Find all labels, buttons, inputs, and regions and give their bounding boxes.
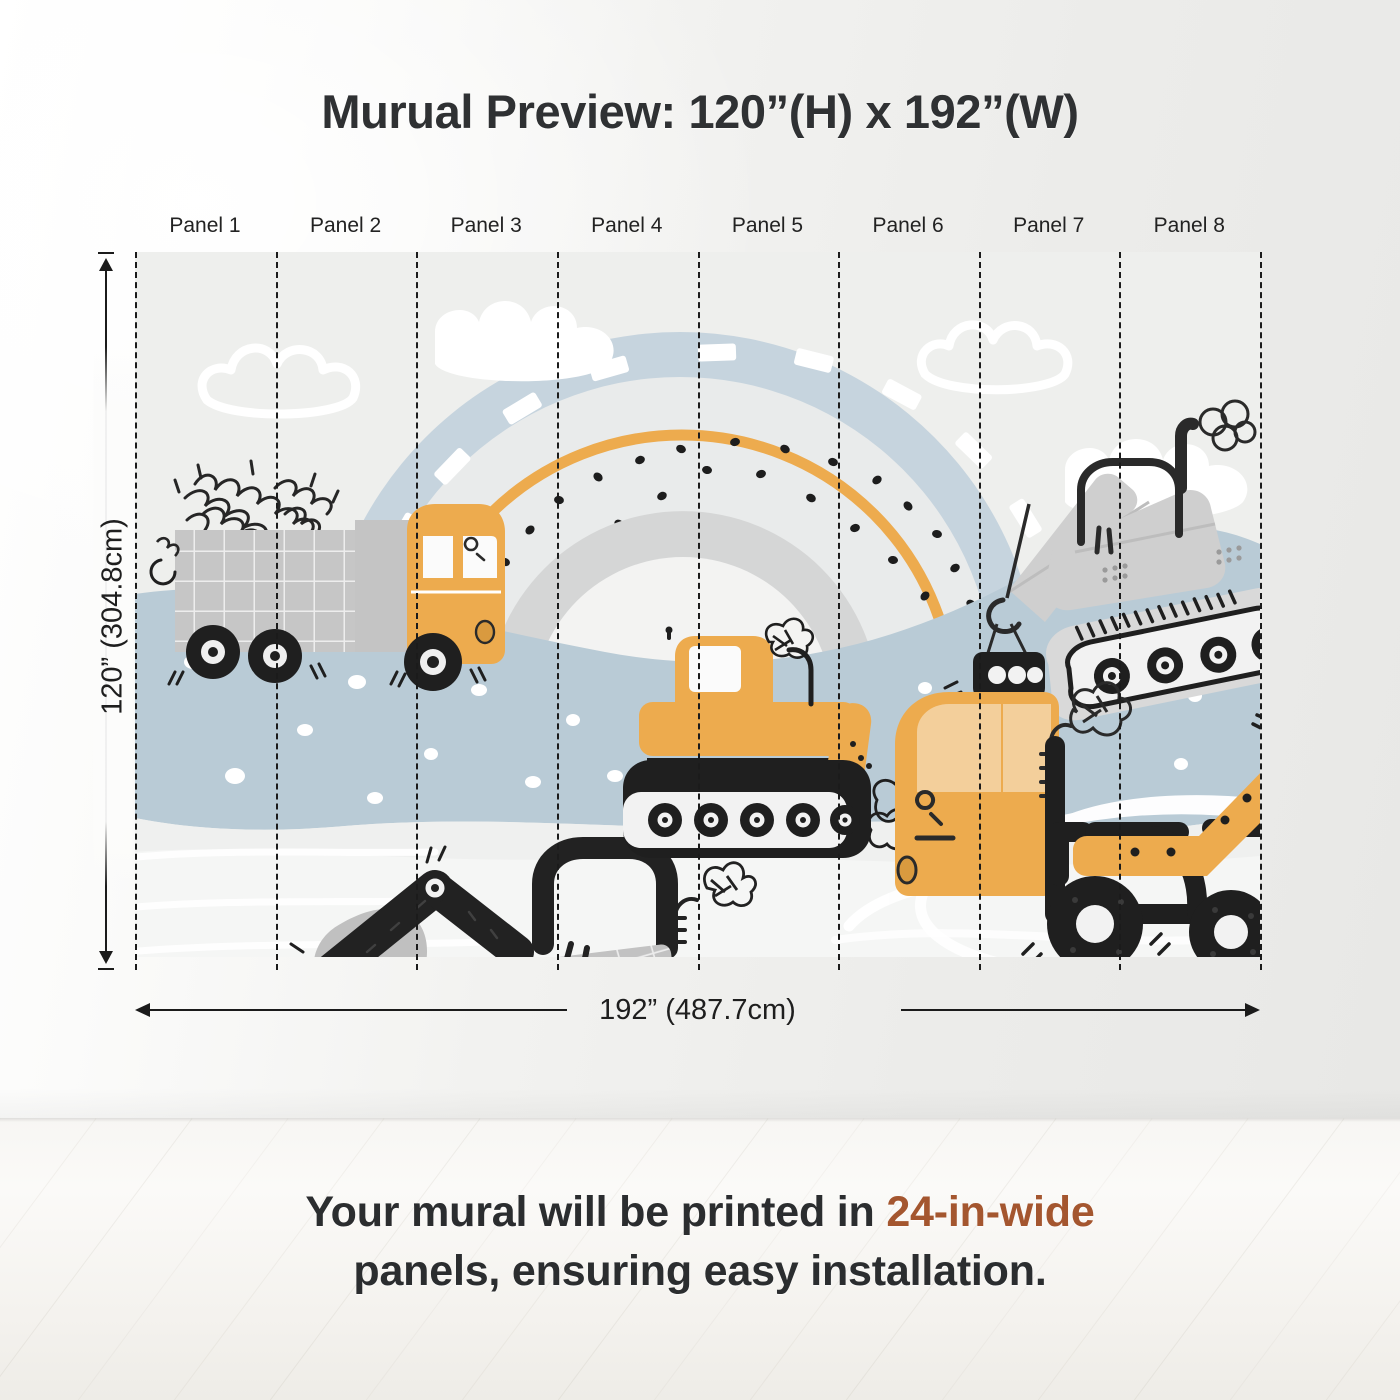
page-title: Murual Preview: 120”(H) x 192”(W) (0, 84, 1400, 139)
panel-divider-4 (698, 252, 700, 970)
caption: Your mural will be printed in 24-in-wide… (0, 1183, 1400, 1302)
panel-divider-5 (838, 252, 840, 970)
height-label: 120” (304.8cm) (94, 347, 133, 887)
floor-top-edge (0, 1118, 1400, 1122)
height-arrow-up-icon (99, 258, 113, 271)
panel-label-1: Panel 1 (135, 214, 275, 238)
panel-divider-left-edge (135, 252, 137, 970)
panel-label-6: Panel 6 (838, 214, 978, 238)
panel-divider-1 (276, 252, 278, 970)
caption-highlight: 24-in-wide (886, 1188, 1094, 1236)
width-dimension: 192” (487.7cm) (135, 992, 1260, 1028)
caption-line2: panels, ensuring easy installation. (353, 1247, 1046, 1295)
caption-line1-before: Your mural will be printed in (305, 1188, 886, 1236)
panel-divider-2 (416, 252, 418, 970)
height-arrow-down-icon (99, 951, 113, 964)
panel-divider-7 (1119, 252, 1121, 970)
panel-label-4: Panel 4 (557, 214, 697, 238)
panel-label-5: Panel 5 (698, 214, 838, 238)
mural-preview-stage: Murual Preview: 120”(H) x 192”(W) (0, 0, 1400, 1400)
height-cap-top (98, 252, 114, 254)
wall-base-shadow (0, 1088, 1400, 1118)
width-line-right (901, 1009, 1246, 1011)
panel-label-2: Panel 2 (276, 214, 416, 238)
panel-label-7: Panel 7 (979, 214, 1119, 238)
width-arrow-right-icon (1245, 1003, 1260, 1017)
panel-divider-6 (979, 252, 981, 970)
panel-label-8: Panel 8 (1119, 214, 1259, 238)
panel-label-row: Panel 1 Panel 2 Panel 3 Panel 4 Panel 5 … (135, 214, 1260, 244)
panel-divider-right-edge (1260, 252, 1262, 970)
panel-label-3: Panel 3 (416, 214, 556, 238)
height-dimension: 120” (304.8cm) (86, 252, 126, 970)
panel-divider-3 (557, 252, 559, 970)
height-cap-bottom (98, 968, 114, 970)
